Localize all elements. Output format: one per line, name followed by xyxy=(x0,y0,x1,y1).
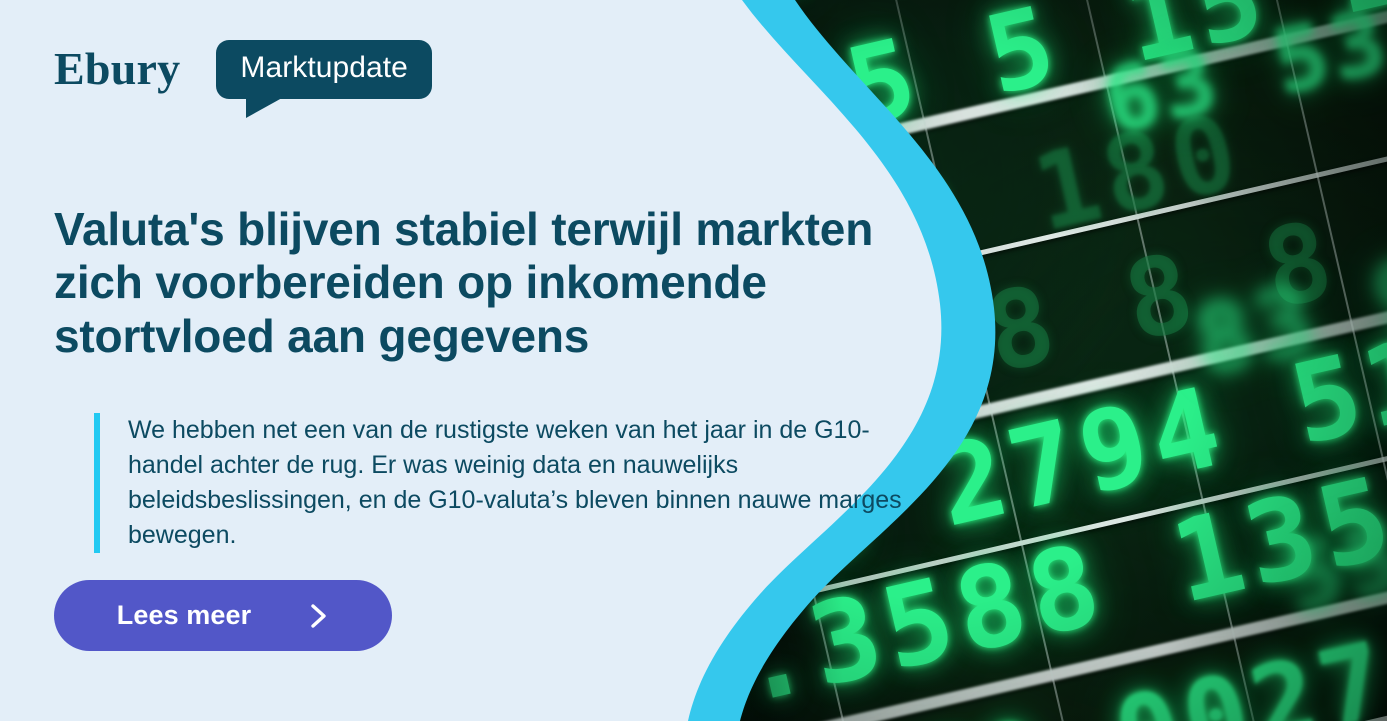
brand-row: Ebury Marktupdate xyxy=(54,40,432,99)
marketing-banner: .6 3 55 98 8.5 5 15 138 8 8 1801.50 8 8 … xyxy=(0,0,1387,721)
content-panel: Ebury Marktupdate Valuta's blijven stabi… xyxy=(0,0,700,721)
marktupdate-badge: Marktupdate xyxy=(216,40,431,99)
speech-bubble-tail-icon xyxy=(246,98,282,118)
ebury-logo: Ebury xyxy=(54,40,180,92)
quote-text: We hebben net een van de rustigste weken… xyxy=(94,413,918,553)
marktupdate-badge-label: Marktupdate xyxy=(216,40,431,99)
lees-meer-button-label: Lees meer xyxy=(117,600,252,631)
chevron-right-icon xyxy=(309,601,329,631)
page-title: Valuta's blijven stabiel terwijl markten… xyxy=(54,203,874,363)
lees-meer-button[interactable]: Lees meer xyxy=(54,580,392,651)
